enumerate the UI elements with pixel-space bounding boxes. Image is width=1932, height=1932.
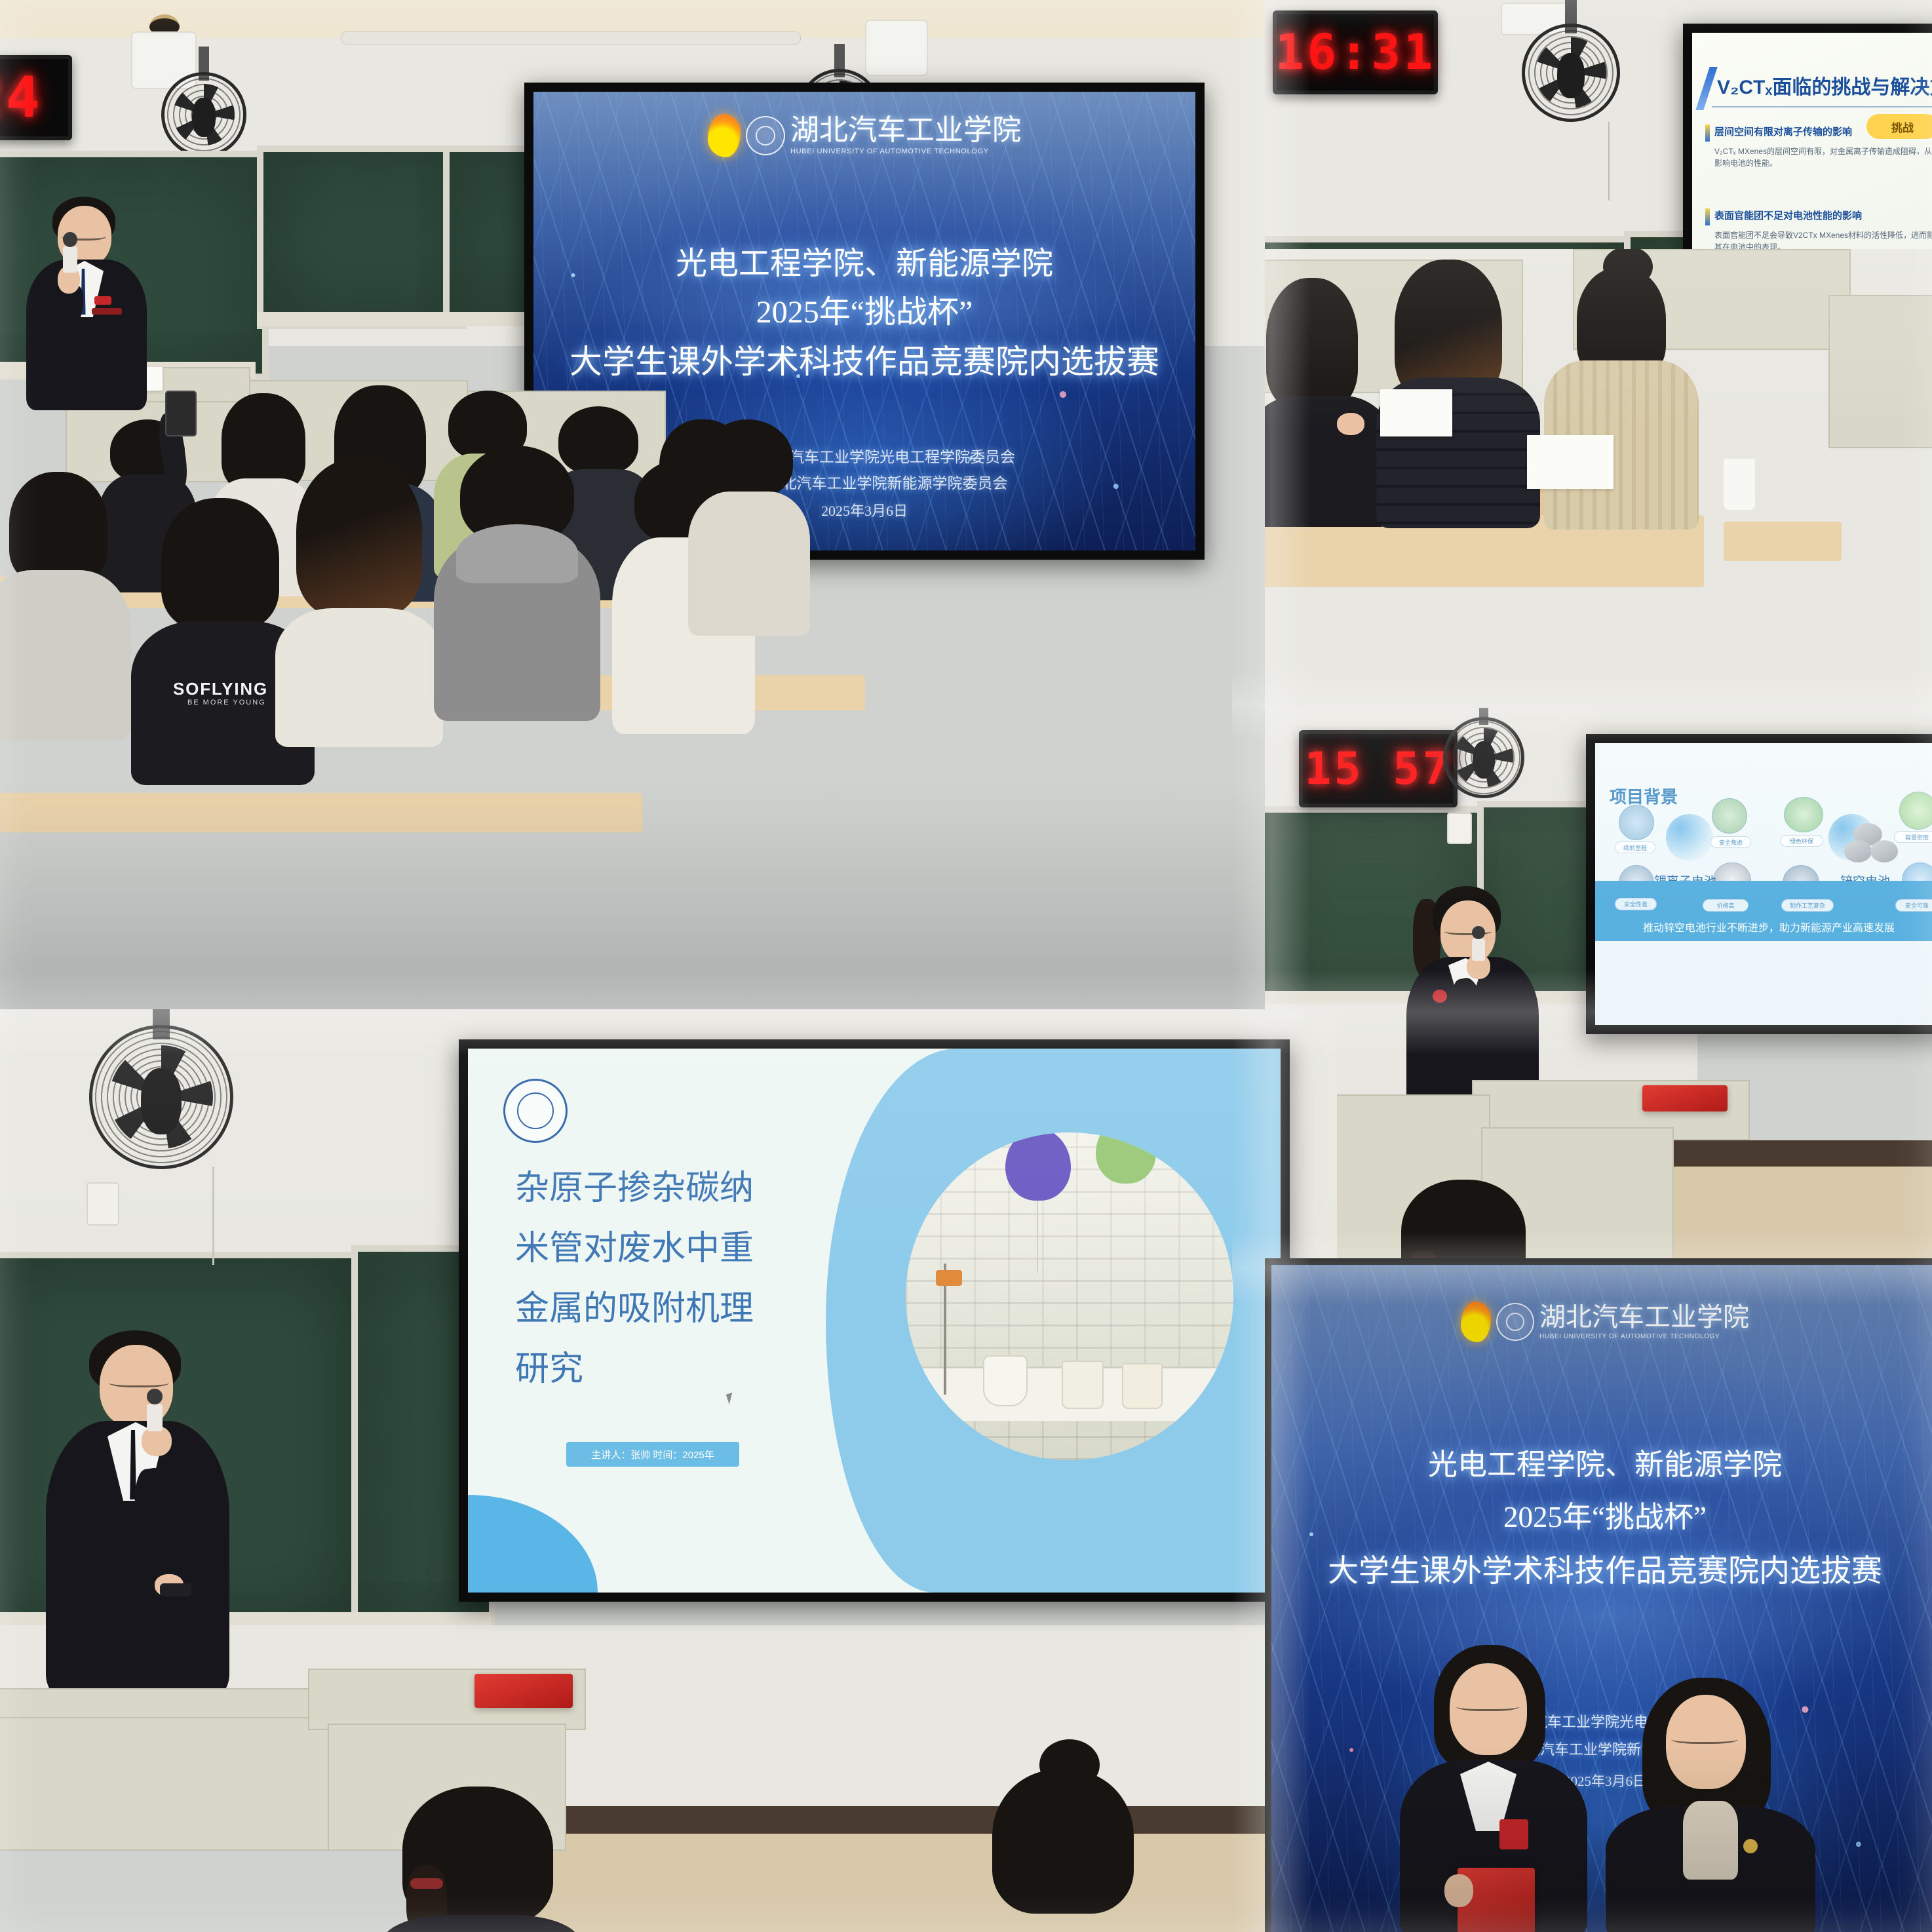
audience-member	[963, 1747, 1160, 1932]
coin-cells-icon	[1844, 823, 1899, 868]
lab-beaker	[1062, 1361, 1104, 1409]
battery-thumb	[1712, 798, 1747, 834]
wall-speaker-right	[865, 20, 928, 76]
university-name-en: HUBEI UNIVERSITY OF AUTOMOTIVE TECHNOLOG…	[790, 148, 1021, 155]
panel-opening-ceremony: 24 湖北汽车工业学院 HUBEI	[0, 0, 1337, 1088]
challenge-badge: 挑战	[1866, 114, 1932, 139]
panel-award-photo: 湖北汽车工业学院 HUBEI UNIVERSITY OF AUTOMOTIVE …	[1265, 1258, 1932, 1932]
banner-line-3: 大学生课外学术科技作品竞赛院内选拔赛	[1271, 1545, 1932, 1591]
college-seal-icon	[503, 1079, 568, 1143]
winner-hand	[1444, 1874, 1473, 1907]
banner-line-1: 光电工程学院、新能源学院	[533, 237, 1195, 283]
fan-pull-cord	[212, 1167, 214, 1265]
audience-hair	[161, 498, 279, 629]
panel-female-presenter: 15 57 项目背景	[1265, 708, 1932, 1285]
judge-hair	[1266, 278, 1358, 409]
nanotube-title-line: 杂原子掺杂碳纳	[515, 1164, 754, 1213]
lab-flask	[983, 1355, 1028, 1406]
wall-fan-icon	[1522, 24, 1620, 122]
nanotube-slide: 杂原子掺杂碳纳 米管对废水中重 金属的吸附机理 研究 主讲人：张帅 时间：202…	[468, 1049, 1281, 1593]
handheld-microphone	[147, 1404, 163, 1431]
wall-socket	[87, 1182, 119, 1226]
audience-member	[383, 1787, 579, 1932]
faculty-lapel-badge	[1743, 1839, 1758, 1853]
top-right-clock-value: 16:31	[1275, 24, 1436, 81]
banner-line-2: 2025年“挑战杯”	[533, 286, 1195, 332]
judge-hand	[1337, 413, 1364, 435]
slide-bokeh-specks	[1271, 1265, 1932, 1932]
mouse-cursor-icon	[726, 1393, 735, 1404]
wall-fan-icon	[1443, 717, 1524, 798]
university-name-en: HUBEI UNIVERSITY OF AUTOMOTIVE TECHNOLOG…	[1539, 1334, 1749, 1340]
bullet-marker	[1705, 125, 1710, 142]
faculty-turtleneck	[1683, 1801, 1738, 1880]
title-rule	[1712, 106, 1932, 107]
banner-line-2: 2025年“挑战杯”	[1271, 1493, 1932, 1536]
battery-thumb	[1899, 792, 1932, 830]
slide-heading: 项目背景	[1610, 784, 1678, 808]
nanotube-projector-screen: 杂原子掺杂碳纳 米管对废水中重 金属的吸附机理 研究 主讲人：张帅 时间：202…	[459, 1039, 1290, 1602]
speaker-ribbon	[92, 308, 122, 315]
nanotube-title-line: 金属的吸附机理	[515, 1285, 754, 1334]
flame-logo-icon	[708, 114, 741, 157]
award-backdrop-screen: 湖北汽车工业学院 HUBEI UNIVERSITY OF AUTOMOTIVE …	[1265, 1258, 1932, 1932]
slide-corner-blob	[468, 1495, 598, 1593]
background-tag: 续航里程	[1615, 841, 1655, 853]
award-winner	[1396, 1645, 1593, 1932]
presenter-glasses-icon	[109, 1376, 169, 1387]
paper-cup	[1724, 459, 1755, 510]
banner-date: 2025年3月6日	[1271, 1771, 1932, 1790]
university-logo: 湖北汽车工业学院 HUBEI UNIVERSITY OF AUTOMOTIVE …	[708, 114, 1021, 157]
v2ctx-title: V₂CTₓ面临的挑战与解决方案	[1717, 71, 1932, 100]
banner-line-1: 光电工程学院、新能源学院	[1271, 1440, 1932, 1483]
battery-thumb	[1619, 805, 1654, 840]
scoring-sheet	[1380, 389, 1452, 436]
screen-roller	[341, 31, 801, 45]
university-seal-icon	[746, 116, 785, 155]
audience-member	[0, 472, 125, 734]
smartphone	[165, 391, 197, 436]
winner-award-badge	[1499, 1819, 1528, 1849]
seal-inner-ring	[517, 1092, 554, 1129]
banner-org-1: 共青团湖北汽车工业学院光电工程学院委员会	[1271, 1710, 1932, 1731]
lab-photo-circle	[906, 1132, 1233, 1460]
audience-hair	[992, 1769, 1134, 1914]
university-name-cn: 湖北汽车工业学院	[1539, 1302, 1749, 1332]
wall-socket	[1447, 813, 1472, 844]
banner-line-3: 大学生课外学术科技作品竞赛院内选拔赛	[533, 336, 1195, 383]
project-background-slide: 项目背景 续航里程 安全焦虑 绿色环保 容量密	[1595, 743, 1932, 1025]
nanotube-presenter-chip: 主讲人：张帅 时间：2025年	[566, 1442, 739, 1467]
mid-right-led-clock: 15 57	[1299, 730, 1458, 807]
presenter-lapel-badge	[1433, 990, 1447, 1003]
lab-beaker	[1122, 1363, 1163, 1409]
jacket-brand-subtext: BE MORE YOUNG	[187, 699, 266, 706]
handheld-microphone	[63, 246, 77, 273]
background-tag: 安全可靠	[1895, 899, 1932, 912]
background-tag: 安全性差	[1615, 898, 1657, 910]
nanotube-presenter	[39, 1330, 236, 1697]
jacket-brand-text: SOFLYING	[173, 679, 268, 699]
audience-hair	[296, 459, 422, 616]
bench-desk	[1724, 522, 1842, 561]
mid-right-clock-value: 15 57	[1304, 743, 1452, 795]
v2ctx-bullet-1: 层间空间有限对离子传输的影响	[1714, 125, 1852, 138]
nanotube-title-line: 研究	[515, 1345, 583, 1394]
background-tag: 安全焦虑	[1710, 836, 1751, 848]
judge	[1265, 278, 1385, 520]
background-tag: 制作工艺复杂	[1781, 899, 1834, 912]
chalk-tray	[257, 312, 541, 326]
bench-desk	[0, 793, 642, 832]
top-right-led-clock: 16:31	[1273, 10, 1438, 94]
audience-member	[282, 459, 433, 741]
university-seal-icon	[1496, 1303, 1534, 1341]
award-banner-slide: 湖北汽车工业学院 HUBEI UNIVERSITY OF AUTOMOTIVE …	[1271, 1265, 1932, 1932]
background-tag: 绿色环保	[1780, 835, 1823, 847]
title-accent-bar	[1695, 67, 1717, 110]
wall-fan-icon	[89, 1025, 233, 1169]
presenter-clicker	[160, 1583, 191, 1596]
front-desk	[0, 1717, 343, 1851]
bullet-marker	[1705, 208, 1710, 225]
lab-clamp	[936, 1270, 962, 1286]
balloon-string	[1037, 1201, 1038, 1273]
background-tag: 价格高	[1703, 899, 1748, 912]
background-tag: 容量密度	[1894, 831, 1932, 843]
audience-hair	[9, 472, 107, 583]
opening-speaker	[12, 197, 169, 406]
wall-fan-icon	[161, 72, 246, 157]
university-name-cn: 湖北汽车工业学院	[790, 114, 1021, 146]
audience-member	[688, 419, 806, 629]
background-projector-screen: 项目背景 续航里程 安全焦虑 绿色环保 容量密	[1586, 734, 1932, 1034]
top-left-led-clock: 24	[0, 55, 72, 140]
audience-torso	[275, 608, 443, 747]
audience-member	[440, 446, 591, 721]
v2ctx-bullet-2: 表面官能团不足对电池性能的影响	[1714, 208, 1862, 222]
flame-logo-icon	[1461, 1302, 1491, 1342]
university-name: 湖北汽车工业学院 HUBEI UNIVERSITY OF AUTOMOTIVE …	[1539, 1304, 1749, 1340]
speaker-lapel-badge	[94, 296, 111, 305]
nanotube-title-line: 米管对废水中重	[515, 1224, 754, 1273]
hair-tie	[410, 1878, 443, 1889]
audience-hair	[703, 419, 793, 498]
chalkboard	[257, 145, 467, 329]
judge-desk	[1828, 295, 1932, 448]
winner-glasses-icon	[1456, 1700, 1519, 1711]
photo-collage: 24 湖北汽车工业学院 HUBEI	[0, 0, 1932, 1932]
audience-torso	[688, 492, 810, 636]
university-logo: 湖北汽车工业学院 HUBEI UNIVERSITY OF AUTOMOTIVE …	[1461, 1302, 1749, 1342]
faculty-member	[1606, 1678, 1815, 1932]
v2ctx-body-1: V₂CTₓ MXenes的层间空间有限，对金属离子传输造成阻碍，从而影响电池的性…	[1714, 145, 1932, 169]
judge-torso	[1265, 396, 1392, 527]
top-left-clock-value: 24	[0, 65, 43, 130]
banner-org-2: 共青团湖北汽车工业学院新能源学院委员会	[1271, 1738, 1932, 1759]
audience-torso	[0, 570, 131, 741]
university-name: 湖北汽车工业学院 HUBEI UNIVERSITY OF AUTOMOTIVE …	[790, 116, 1021, 155]
hoodie-hood	[456, 524, 578, 583]
decor-arc	[1666, 814, 1713, 861]
handheld-microphone	[1472, 938, 1485, 961]
slide-band-message: 推动锌空电池行业不断进步，助力新能源产业高速发展	[1595, 919, 1932, 935]
red-certificate-folder	[474, 1674, 573, 1708]
battery-thumb	[1784, 797, 1823, 832]
purple-balloon	[1005, 1132, 1071, 1201]
fan-pull-cord	[1608, 122, 1610, 201]
panel-nanotube-talk: 杂原子掺杂碳纳 米管对废水中重 金属的吸附机理 研究 主讲人：张帅 时间：202…	[0, 1009, 1337, 1932]
panel-judges	[1265, 249, 1932, 708]
scoring-sheet	[1527, 435, 1613, 489]
red-certificate-folder	[1642, 1085, 1728, 1111]
audience-member: SOFLYING BE MORE YOUNG	[151, 498, 295, 780]
faculty-glasses-icon	[1671, 1733, 1738, 1744]
